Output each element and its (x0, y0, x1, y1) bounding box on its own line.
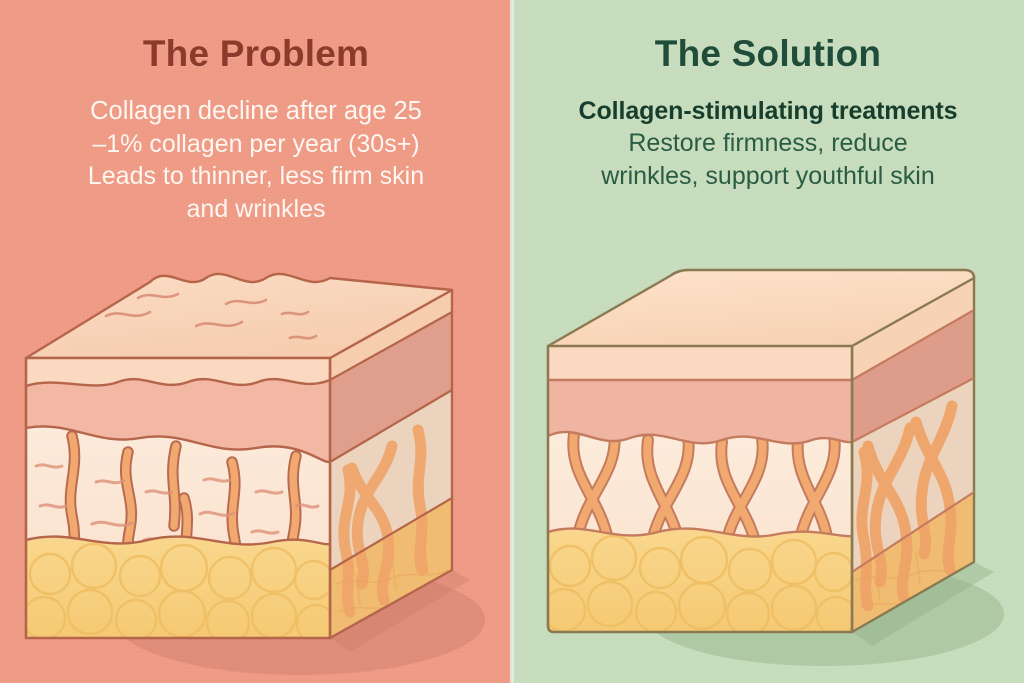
problem-copy-block: The Problem Collagen decline after age 2… (0, 0, 512, 225)
solution-body-lines: Collagen-stimulating treatments Restore … (530, 95, 1006, 194)
panel-problem: The Problem Collagen decline after age 2… (0, 0, 512, 683)
solution-title: The Solution (530, 0, 1006, 75)
panel-divider (510, 0, 514, 683)
problem-line-2: –1% collagen per year (30s+) (18, 128, 494, 161)
solution-line-2: wrinkles, support youthful skin (530, 160, 1006, 193)
solution-line-1: Restore firmness, reduce (530, 127, 1006, 160)
problem-line-1: Collagen decline after age 25 (18, 95, 494, 128)
aged-skin-illustration (0, 240, 512, 683)
solution-copy-block: The Solution Collagen-stimulating treatm… (512, 0, 1024, 193)
panel-solution: The Solution Collagen-stimulating treatm… (512, 0, 1024, 683)
infographic-stage: The Problem Collagen decline after age 2… (0, 0, 1024, 683)
problem-title: The Problem (18, 0, 494, 75)
solution-lead-line: Collagen-stimulating treatments (530, 95, 1006, 128)
problem-body-lines: Collagen decline after age 25 –1% collag… (18, 95, 494, 226)
problem-line-3: Leads to thinner, less firm skin (18, 160, 494, 193)
restored-front-face (543, 346, 855, 635)
restored-skin-illustration (512, 240, 1024, 683)
aged-front-face (23, 358, 335, 643)
problem-line-4: and wrinkles (18, 193, 494, 226)
